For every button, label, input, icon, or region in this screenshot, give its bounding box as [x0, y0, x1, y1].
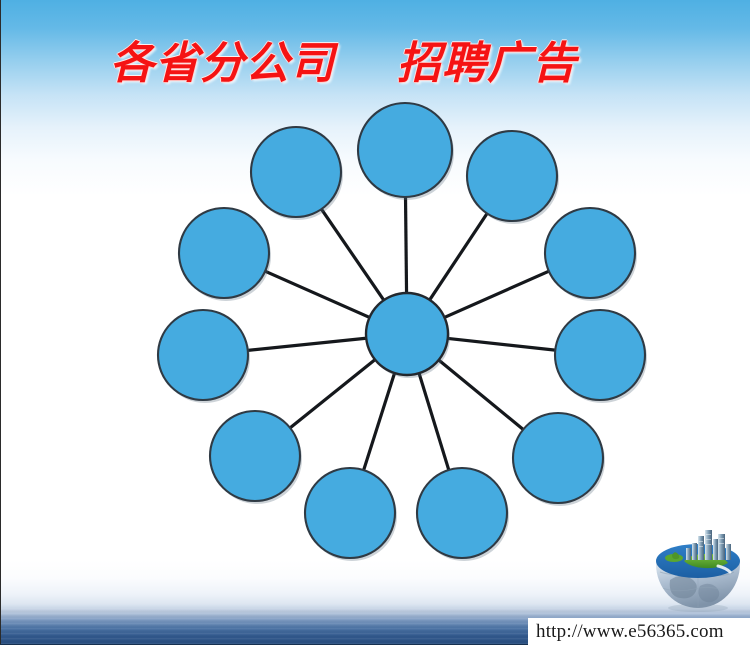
logo-city-buildings — [686, 530, 731, 560]
page-title-part1: 各省分公司 — [110, 42, 335, 86]
url-watermark-text: http://www.e56365.com — [536, 621, 724, 643]
left-edge-border — [0, 0, 1, 645]
globe-city-logo — [652, 528, 744, 612]
slide-canvas: 各省分公司 招聘广告 — [0, 0, 750, 645]
page-title: 各省分公司 招聘广告 — [110, 34, 680, 94]
url-watermark: http://www.e56365.com — [528, 618, 750, 645]
background-sky-gradient — [0, 0, 750, 645]
page-title-part2: 招聘广告 — [397, 42, 577, 86]
